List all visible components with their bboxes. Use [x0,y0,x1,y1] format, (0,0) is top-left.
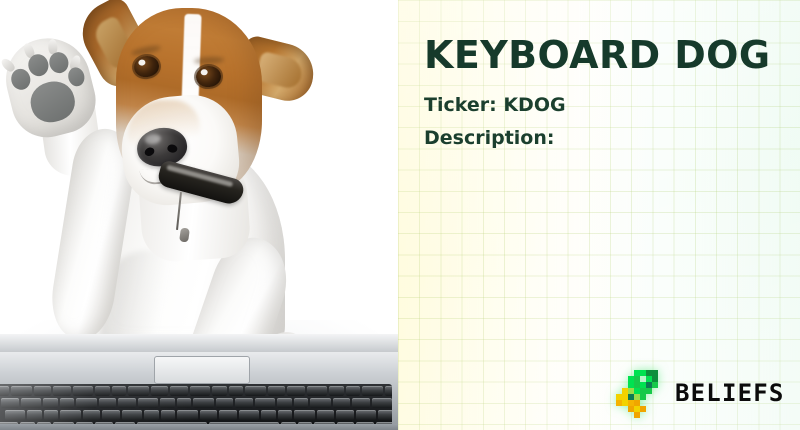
laptop-trackpad [154,356,250,384]
brand-name: BELIEFS [675,381,785,405]
info-content: KEYBOARD DOG Ticker: KDOG Description: B… [398,0,800,430]
eye-glint [200,69,207,75]
laptop-base-edge [0,424,400,430]
dog-right-ear-inner [255,51,305,91]
dog-photo [0,0,400,430]
laptop [0,334,400,430]
logo-pixel [640,394,646,400]
page-title: KEYBOARD DOG [424,36,770,74]
logo-pixel [640,406,646,412]
beliefs-logo-icon [616,368,666,418]
logo-pixel [652,382,658,388]
logo-pixel [646,388,652,394]
brand-lockup[interactable]: BELIEFS [616,368,785,418]
info-panel: KEYBOARD DOG Ticker: KDOG Description: B… [398,0,800,430]
ticker-line: Ticker: KDOG [424,96,566,115]
logo-pixel [634,412,640,418]
token-card: KEYBOARD DOG Ticker: KDOG Description: B… [0,0,800,430]
nostril [167,144,178,154]
description-line: Description: [424,129,555,148]
nose-highlight [144,133,161,145]
eye-glint [138,59,146,66]
paw-pad [66,66,86,88]
nostril [143,146,155,158]
